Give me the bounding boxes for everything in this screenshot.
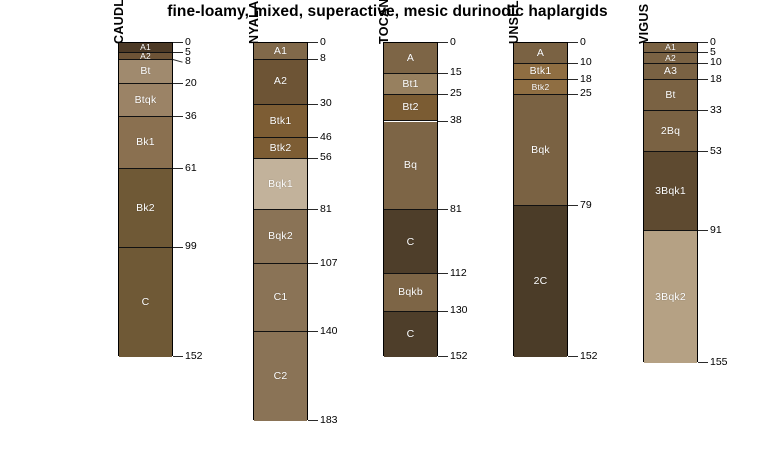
horizon-label: Bqk2 — [268, 231, 293, 242]
profile-name-label: TOCAN — [377, 0, 391, 44]
horizon-band[interactable]: 2Bq — [644, 111, 697, 152]
depth-tick-leader — [438, 94, 448, 95]
depth-tick-leader — [698, 151, 708, 152]
horizon-label: A1 — [274, 46, 287, 57]
depth-tick-label: 30 — [320, 98, 332, 109]
horizon-band[interactable]: A — [514, 43, 567, 64]
horizon-band[interactable]: Bqkb — [384, 274, 437, 311]
profile-column[interactable]: ABt1Bt2BqCBqkbC — [383, 42, 438, 356]
depth-tick-label: 46 — [320, 132, 332, 143]
horizon-band[interactable]: Bk2 — [119, 169, 172, 248]
depth-tick-label: 25 — [450, 88, 462, 99]
depth-tick-leader — [173, 116, 183, 117]
depth-tick-leader — [308, 137, 318, 138]
horizon-band[interactable]: C — [384, 312, 437, 357]
depth-tick-leader — [568, 42, 578, 43]
depth-tick-leader — [438, 121, 448, 122]
horizon-band[interactable]: C — [384, 210, 437, 274]
depth-tick-leader — [568, 205, 578, 206]
horizon-band[interactable]: Btk2 — [514, 80, 567, 94]
depth-tick-label: 152 — [580, 351, 598, 362]
horizon-band[interactable]: 2C — [514, 206, 567, 357]
horizon-label: Bqkb — [398, 287, 423, 298]
horizon-band[interactable]: Bt2 — [384, 95, 437, 122]
depth-tick-leader — [438, 209, 448, 210]
depth-tick-label: 140 — [320, 326, 338, 337]
horizon-label: 2Bq — [661, 126, 680, 137]
horizon-label: C1 — [274, 292, 288, 303]
depth-tick-leader — [568, 94, 578, 95]
profile-name-label: CAUDLE — [112, 0, 126, 44]
horizon-band[interactable]: C — [119, 248, 172, 357]
horizon-label: A2 — [274, 76, 287, 87]
depth-tick-label: 61 — [185, 163, 197, 174]
depth-tick-leader — [173, 42, 183, 43]
horizon-band[interactable]: A1 — [254, 43, 307, 60]
horizon-label: Btqk — [135, 95, 157, 106]
horizon-label: Btk2 — [270, 143, 292, 154]
depth-tick-label: 79 — [580, 200, 592, 211]
horizon-label: A3 — [664, 66, 677, 77]
depth-tick-leader — [308, 104, 318, 105]
horizon-band[interactable]: Bqk2 — [254, 210, 307, 264]
horizon-label: 2C — [534, 276, 548, 287]
horizon-band[interactable]: Bt — [119, 60, 172, 85]
depth-tick-leader — [173, 247, 183, 248]
horizon-label: Btk2 — [532, 83, 550, 92]
horizon-band[interactable]: Btk1 — [254, 105, 307, 138]
horizon-label: Bt — [140, 66, 150, 77]
depth-tick-label: 8 — [185, 56, 191, 67]
depth-tick-label: 8 — [320, 53, 326, 64]
horizon-band[interactable]: A2 — [644, 53, 697, 63]
horizon-band[interactable]: A1 — [644, 43, 697, 53]
horizon-band[interactable]: C1 — [254, 264, 307, 332]
profile-column[interactable]: ABtk1Btk2Bqk2C — [513, 42, 568, 356]
profile-name-label: VIGUS — [637, 4, 651, 44]
horizon-label: A1 — [140, 43, 151, 52]
horizon-band[interactable]: 3Bqk2 — [644, 231, 697, 363]
depth-tick-label: 0 — [580, 37, 586, 48]
depth-tick-label: 10 — [710, 57, 722, 68]
horizon-band[interactable]: Bt — [644, 80, 697, 111]
horizon-band[interactable]: 3Bqk1 — [644, 152, 697, 231]
depth-tick-leader — [173, 52, 183, 53]
depth-tick-leader — [173, 168, 183, 169]
horizon-band[interactable]: A3 — [644, 64, 697, 81]
horizon-label: Btk1 — [270, 116, 292, 127]
depth-tick-leader — [698, 230, 708, 231]
horizon-band[interactable]: Bqk1 — [254, 159, 307, 211]
depth-tick-leader — [438, 311, 448, 312]
depth-tick-label: 56 — [320, 152, 332, 163]
depth-tick-label: 15 — [450, 67, 462, 78]
horizon-band[interactable]: Bq — [384, 122, 437, 211]
depth-tick-leader — [568, 79, 578, 80]
horizon-label: C — [407, 237, 415, 248]
depth-tick-label: 91 — [710, 225, 722, 236]
profile-column[interactable]: A1A2BtBtqkBk1Bk2C — [118, 42, 173, 356]
depth-tick-leader — [698, 42, 708, 43]
depth-tick-label: 152 — [185, 351, 203, 362]
depth-tick-leader — [568, 356, 578, 357]
depth-tick-leader — [308, 420, 318, 421]
horizon-band[interactable]: C2 — [254, 332, 307, 421]
horizon-label: Bqk1 — [268, 179, 293, 190]
depth-tick-label: 130 — [450, 305, 468, 316]
profile-name-label: UNSEL — [507, 0, 521, 44]
horizon-label: C — [142, 297, 150, 308]
depth-tick-leader — [568, 63, 578, 64]
depth-tick-leader — [698, 362, 708, 363]
horizon-label: 3Bqk1 — [655, 186, 686, 197]
depth-tick-leader — [173, 59, 183, 63]
depth-tick-label: 20 — [185, 78, 197, 89]
horizon-label: Bt2 — [402, 102, 418, 113]
depth-tick-label: 33 — [710, 105, 722, 116]
depth-tick-leader — [308, 59, 318, 60]
depth-tick-leader — [308, 158, 318, 159]
profile-column[interactable]: A1A2A3Bt2Bq3Bqk13Bqk2 — [643, 42, 698, 362]
depth-tick-leader — [308, 42, 318, 43]
depth-tick-leader — [308, 209, 318, 210]
horizon-label: A1 — [665, 43, 676, 52]
depth-tick-label: 152 — [450, 351, 468, 362]
depth-tick-label: 112 — [450, 268, 467, 279]
horizon-band[interactable]: Bqk — [514, 95, 567, 207]
horizon-label: A — [407, 53, 414, 64]
horizon-label: C2 — [274, 371, 288, 382]
depth-tick-leader — [308, 263, 318, 264]
depth-tick-leader — [698, 79, 708, 80]
horizon-label: Bk2 — [136, 203, 155, 214]
horizon-band[interactable]: A — [384, 43, 437, 74]
depth-tick-leader — [438, 273, 448, 274]
depth-tick-label: 155 — [710, 357, 728, 368]
depth-tick-label: 38 — [450, 115, 462, 126]
horizon-band[interactable]: Bt1 — [384, 74, 437, 95]
horizon-label: A2 — [665, 54, 676, 63]
depth-tick-leader — [438, 73, 448, 74]
horizon-band[interactable]: Btk2 — [254, 138, 307, 159]
depth-tick-leader — [698, 110, 708, 111]
depth-tick-label: 99 — [185, 241, 197, 252]
soil-profile-chart: fine-loamy, mixed, superactive, mesic du… — [0, 0, 775, 450]
depth-tick-label: 25 — [580, 88, 592, 99]
depth-tick-label: 183 — [320, 415, 338, 426]
horizon-band[interactable]: Btqk — [119, 84, 172, 117]
depth-tick-leader — [438, 42, 448, 43]
horizon-band[interactable]: A1 — [119, 43, 172, 53]
depth-tick-leader — [438, 356, 448, 357]
horizon-band[interactable]: Btk1 — [514, 64, 567, 81]
profile-column[interactable]: A1A2Btk1Btk2Bqk1Bqk2C1C2 — [253, 42, 308, 420]
depth-tick-label: 0 — [450, 37, 456, 48]
depth-tick-leader — [173, 83, 183, 84]
depth-tick-label: 53 — [710, 146, 722, 157]
horizon-label: 3Bqk2 — [655, 292, 686, 303]
depth-tick-label: 10 — [580, 57, 592, 68]
horizon-label: Btk1 — [530, 66, 552, 77]
depth-tick-label: 81 — [450, 204, 462, 215]
horizon-label: Bt — [665, 90, 675, 101]
depth-tick-leader — [308, 331, 318, 332]
depth-tick-label: 36 — [185, 111, 197, 122]
depth-tick-label: 18 — [710, 74, 722, 85]
depth-tick-leader — [173, 356, 183, 357]
horizon-label: Bt1 — [402, 79, 418, 90]
profile-name-label: NYALA — [247, 1, 261, 44]
depth-tick-leader — [698, 63, 708, 64]
depth-tick-leader — [698, 52, 708, 53]
horizon-label: Bq — [404, 160, 417, 171]
horizon-band[interactable]: A2 — [254, 60, 307, 105]
depth-tick-label: 0 — [320, 37, 326, 48]
horizon-label: Bk1 — [136, 137, 155, 148]
depth-tick-label: 81 — [320, 204, 332, 215]
depth-tick-label: 18 — [580, 74, 592, 85]
horizon-label: Bqk — [531, 145, 550, 156]
depth-tick-label: 107 — [320, 258, 338, 269]
horizon-band[interactable]: Bk1 — [119, 117, 172, 169]
horizon-label: A — [537, 48, 544, 59]
horizon-label: C — [407, 329, 415, 340]
